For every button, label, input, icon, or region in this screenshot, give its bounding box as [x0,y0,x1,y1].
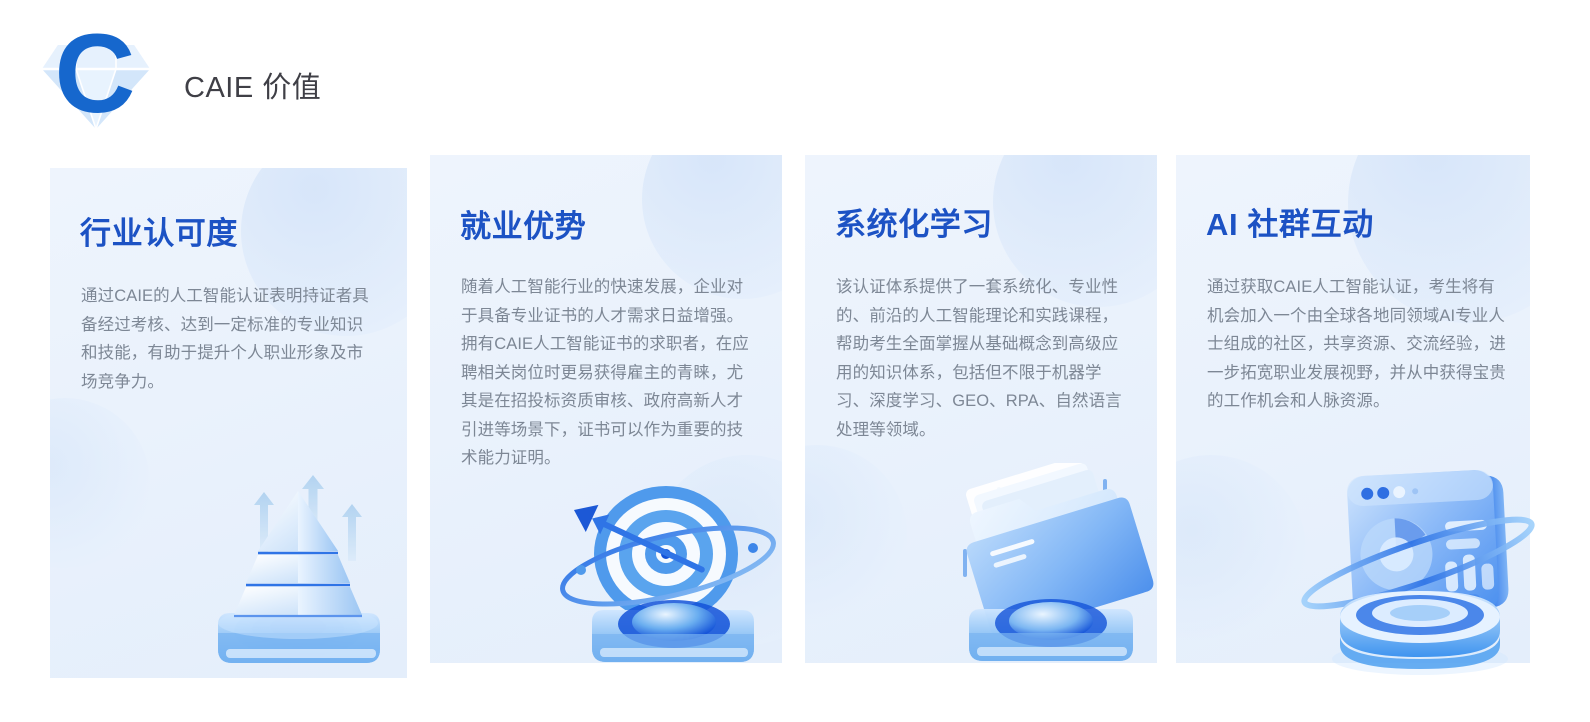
card-title: 就业优势 [460,211,586,242]
card-title: 系统化学习 [835,209,993,240]
value-card-employment-advantage[interactable]: 就业优势 随着人工智能行业的快速发展，企业对于具备专业证书的人才需求日益增强。拥… [430,155,782,663]
card-title: 行业认可度 [80,218,238,249]
card-body: 随着人工智能行业的快速发展，企业对于具备专业证书的人才需求日益增强。拥有CAIE… [461,273,757,473]
card-body: 通过CAIE的人工智能认证表明持证者具备经过考核、达到一定标准的专业知识和技能，… [81,282,379,396]
value-card-systematic-learning[interactable]: 系统化学习 该认证体系提供了一套系统化、专业性的、前沿的人工智能理论和实践课程，… [805,155,1157,663]
card-title: AI 社群互动 [1206,209,1374,240]
value-card-industry-recognition[interactable]: 行业认可度 通过CAIE的人工智能认证表明持证者具备经过考核、达到一定标准的专业… [50,168,407,678]
value-card-ai-community[interactable]: AI 社群互动 通过获取CAIE人工智能认证，考生将有机会加入一个由全球各地同领… [1176,155,1530,663]
card-body: 该认证体系提供了一套系统化、专业性的、前沿的人工智能理论和实践课程，帮助考生全面… [836,273,1132,444]
card-body: 通过获取CAIE人工智能认证，考生将有机会加入一个由全球各地同领域AI专业人士组… [1207,273,1507,416]
value-cards-row: 行业认可度 通过CAIE的人工智能认证表明持证者具备经过考核、达到一定标准的专业… [0,0,1590,722]
